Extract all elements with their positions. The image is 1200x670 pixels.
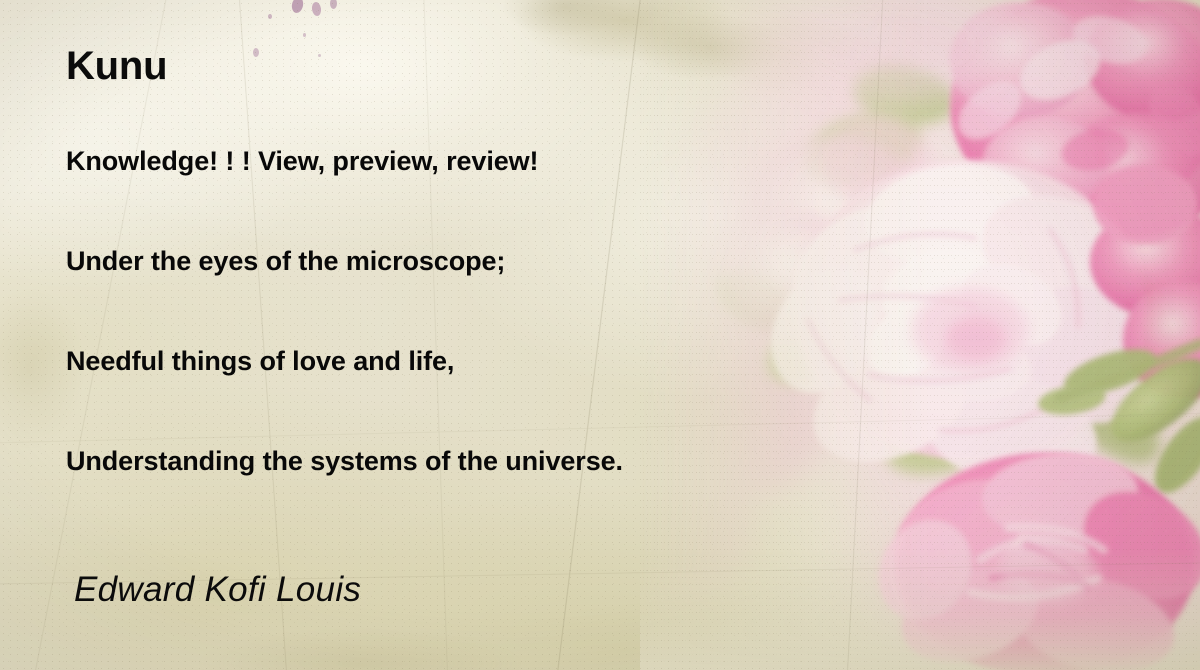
- poem-line: Under the eyes of the microscope;: [66, 248, 786, 275]
- poem-text-layer: Kunu Knowledge! ! ! View, preview, revie…: [0, 0, 1200, 670]
- poem-card: Kunu Knowledge! ! ! View, preview, revie…: [0, 0, 1200, 670]
- poem-title: Kunu: [66, 44, 167, 89]
- poem-line: Understanding the systems of the univers…: [66, 448, 786, 475]
- poem-body: Knowledge! ! ! View, preview, review! Un…: [66, 148, 786, 475]
- poem-line: Needful things of love and life,: [66, 348, 786, 375]
- poem-line: Knowledge! ! ! View, preview, review!: [66, 148, 786, 175]
- poem-author: Edward Kofi Louis: [74, 570, 361, 610]
